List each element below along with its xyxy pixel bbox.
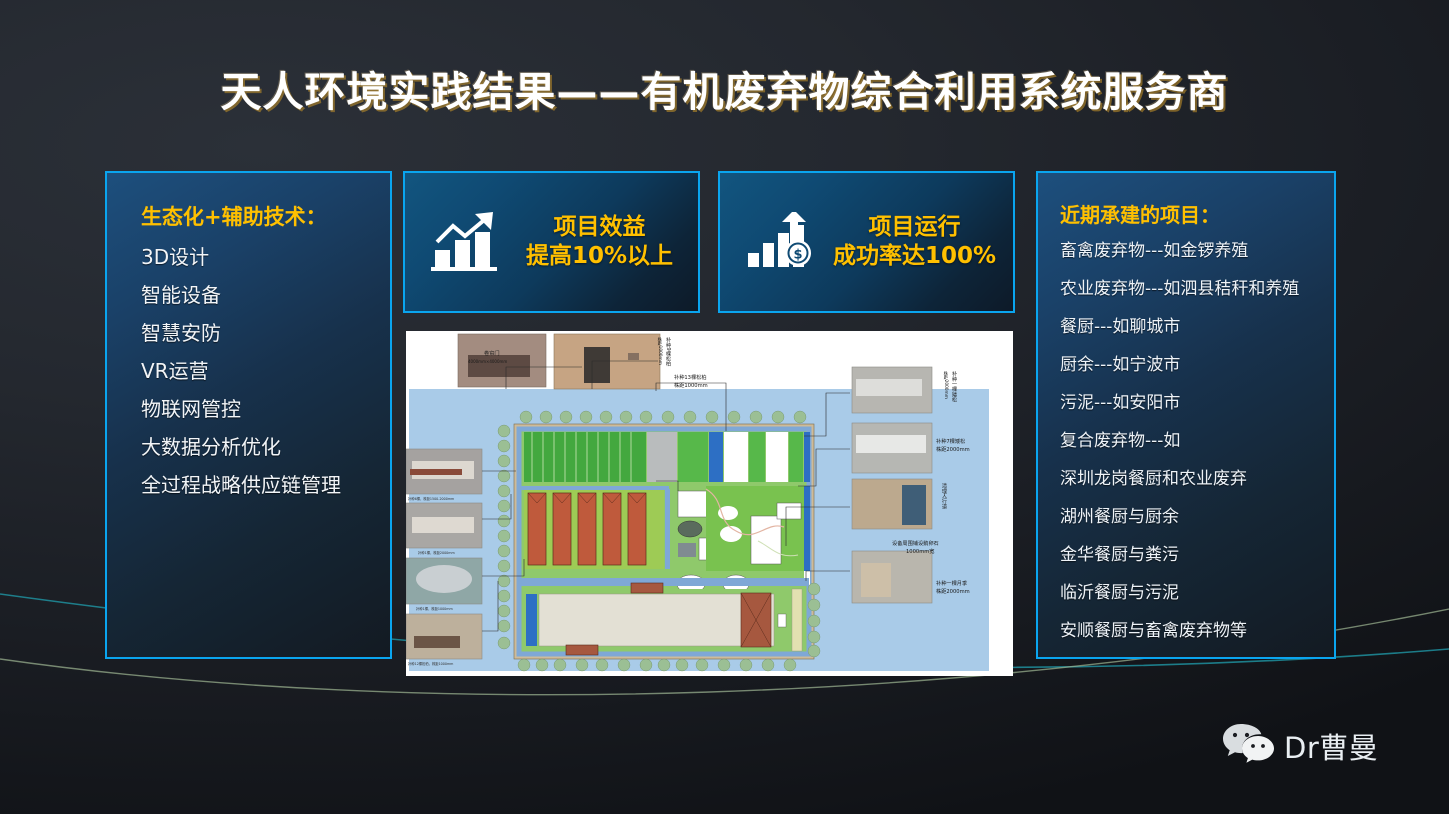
plan-annotation-sub: 株距1000mm <box>674 383 708 390</box>
plan-annotation: 卷帘门 <box>484 351 500 358</box>
plan-photo <box>852 367 932 603</box>
plan-annotation: 设备周围铺设鹅卵石 <box>892 541 939 548</box>
left-panel-item: 3D设计 <box>141 241 390 270</box>
kpi-box-benefit-text: 项目效益 提高10%以上 <box>511 213 698 272</box>
left-panel-item: 智慧安防 <box>141 317 390 346</box>
plan-annotation: 清理人行道 <box>940 483 947 509</box>
wechat-label: Dr曹曼 <box>1284 725 1378 767</box>
kpi-line-2: 成功率达100% <box>826 242 1003 271</box>
left-panel-item: 大数据分析优化 <box>141 431 390 460</box>
right-panel-item: 复合废弃物---如 <box>1060 426 1334 451</box>
plan-photo-caption: 补种6棵，株距1500-2000mm <box>408 496 454 501</box>
plan-annotation: 补种一棵月季 <box>936 581 967 588</box>
right-panel-item: 厨余---如宁波市 <box>1060 350 1334 375</box>
right-panel-item: 安顺餐厨与畜禽废弃物等 <box>1060 616 1334 641</box>
kpi-line-1: 项目效益 <box>511 213 688 242</box>
kpi-line-2: 提高10%以上 <box>511 242 688 271</box>
plan-annotation-sub: 株距2000mm <box>936 447 970 454</box>
bar-chart-growth-icon <box>423 212 511 272</box>
kpi-box-benefit: 项目效益 提高10%以上 <box>403 171 700 313</box>
plan-annotation: 补种7棵矮松 <box>936 439 965 446</box>
left-panel-item: 全过程战略供应链管理 <box>141 469 390 498</box>
site-plan-image: 卷帘门 4000mm×4000mm 补种9棵松柏 株距1000mm 补种13棵松… <box>406 331 1013 676</box>
right-panel-item: 餐厨---如聊城市 <box>1060 312 1334 337</box>
right-panel-item: 深圳龙岗餐厨和农业废弃 <box>1060 464 1334 489</box>
plan-annotation-sub: 株距1000mm <box>656 337 662 365</box>
site-plan-drawing <box>406 331 1013 676</box>
plan-annotation-sub: 4000mm×4000mm <box>468 359 507 364</box>
plan-annotation: 补种13棵松柏 <box>674 375 707 382</box>
plan-photo-caption: 补种1棵，株距1000mm <box>416 606 453 611</box>
plan-annotation-sub: 株距2000mm <box>936 589 970 596</box>
right-panel-heading: 近期承建的项目： <box>1060 199 1334 228</box>
kpi-box-success-rate-text: 项目运行 成功率达100% <box>826 213 1013 272</box>
svg-text:$: $ <box>793 248 802 263</box>
right-panel-item: 湖州餐厨与厨余 <box>1060 502 1334 527</box>
plan-photo-caption: 补种1棵，株距2000mm <box>418 550 455 555</box>
page-title: 天人环境实践结果——有机废弃物综合利用系统服务商 <box>0 58 1449 118</box>
wechat-icon <box>1222 722 1274 769</box>
kpi-box-success-rate: $ 项目运行 成功率达100% <box>718 171 1015 313</box>
plan-annotation-sub: 株距2000mm <box>942 371 948 399</box>
right-panel-item: 畜禽废弃物---如金锣养殖 <box>1060 236 1334 261</box>
plan-photo-caption: 补种12棵松柏，株距1000mm <box>408 661 453 666</box>
plan-annotation-sub: 1000mm宽 <box>906 549 935 556</box>
wechat-badge: Dr曹曼 <box>1222 722 1378 769</box>
right-panel-item: 农业废弃物---如泗县秸秆和养殖 <box>1060 274 1334 299</box>
bar-chart-money-icon: $ <box>738 212 826 272</box>
slide-canvas: 天人环境实践结果——有机废弃物综合利用系统服务商 生态化+辅助技术： 3D设计 … <box>0 0 1449 814</box>
left-panel-item: VR运营 <box>141 355 390 384</box>
right-panel-item: 临沂餐厨与污泥 <box>1060 578 1334 603</box>
left-panel-item: 物联网管控 <box>141 393 390 422</box>
kpi-line-1: 项目运行 <box>826 213 1003 242</box>
left-panel-item: 智能设备 <box>141 279 390 308</box>
plan-annotation: 补种9棵松柏 <box>664 337 671 366</box>
right-panel: 近期承建的项目： 畜禽废弃物---如金锣养殖 农业废弃物---如泗县秸秆和养殖 … <box>1036 171 1336 659</box>
left-panel-heading: 生态化+辅助技术： <box>141 201 390 231</box>
right-panel-item: 金华餐厨与粪污 <box>1060 540 1334 565</box>
right-panel-item: 污泥---如安阳市 <box>1060 388 1334 413</box>
left-panel: 生态化+辅助技术： 3D设计 智能设备 智慧安防 VR运营 物联网管控 大数据分… <box>105 171 392 659</box>
plan-annotation: 补种一棵矮松 <box>950 371 957 402</box>
